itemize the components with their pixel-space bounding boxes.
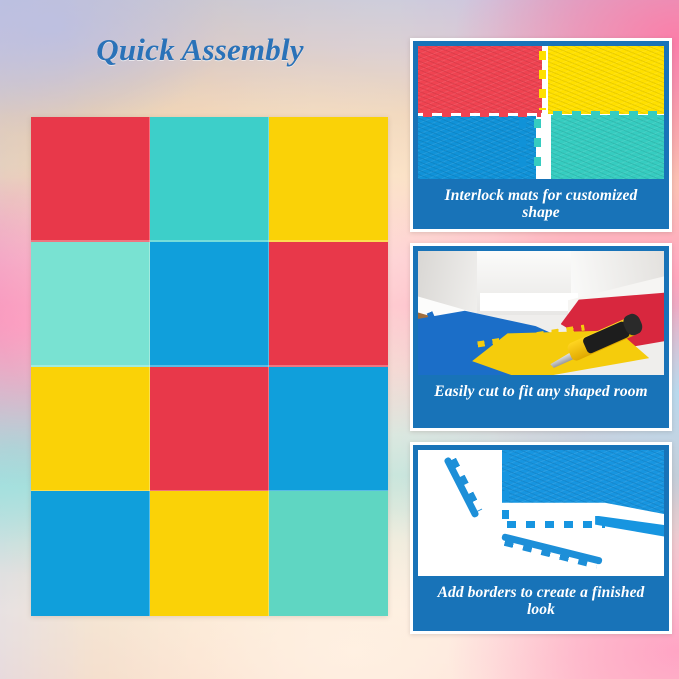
puzzle-teeth-red xyxy=(423,110,541,117)
quad-mat-teal xyxy=(551,115,664,179)
mat-tile-yellow xyxy=(31,367,150,492)
border-strip-left xyxy=(443,456,479,518)
mat-tile-blue xyxy=(150,242,269,367)
panel-borders[interactable]: Add borders to create a finished look xyxy=(410,442,672,634)
baseboard-back xyxy=(480,293,578,310)
mat-tile-red xyxy=(31,117,150,242)
puzzle-teeth-teal xyxy=(553,111,661,118)
puzzle-teeth-blue-vertical xyxy=(519,119,526,175)
border-strip-bottom xyxy=(501,533,603,565)
mat-tile-red xyxy=(150,367,269,492)
main-mat-grid xyxy=(31,117,388,616)
panel-cut-to-fit[interactable]: Easily cut to fit any shaped room xyxy=(410,243,672,431)
quad-mat-yellow xyxy=(548,46,664,114)
puzzle-teeth-teal-vertical xyxy=(534,119,541,175)
border-strip-bottom-teeth xyxy=(504,539,598,569)
mat-tile-yellow xyxy=(150,491,269,616)
mat-tile-teal xyxy=(150,117,269,242)
blue-mat-edge xyxy=(595,516,664,539)
border-strip-left-teeth xyxy=(449,457,481,512)
quad-mat-red xyxy=(418,46,542,113)
mat-tile-blue xyxy=(31,491,150,616)
mat-tile-red xyxy=(269,242,388,367)
mat-tile-teal xyxy=(31,242,150,367)
panel-interlock[interactable]: Interlock mats for customized shape xyxy=(410,38,672,232)
panel-borders-image xyxy=(418,450,664,576)
puzzle-teeth-yellow xyxy=(539,51,546,110)
panel-borders-caption: Add borders to create a finished look xyxy=(418,576,664,619)
panel-interlock-image xyxy=(418,46,664,179)
puzzle-teeth-mat-left xyxy=(502,453,509,521)
panel-interlock-caption: Interlock mats for customized shape xyxy=(418,179,664,222)
panel-cut-to-fit-image xyxy=(418,251,664,375)
page-title: Quick Assembly xyxy=(0,32,400,68)
puzzle-teeth-mat-bottom xyxy=(507,521,605,528)
mat-tile-blue xyxy=(269,367,388,492)
mat-tile-teal xyxy=(269,491,388,616)
panel-cut-to-fit-caption: Easily cut to fit any shaped room xyxy=(418,375,664,400)
mat-tile-yellow xyxy=(269,117,388,242)
